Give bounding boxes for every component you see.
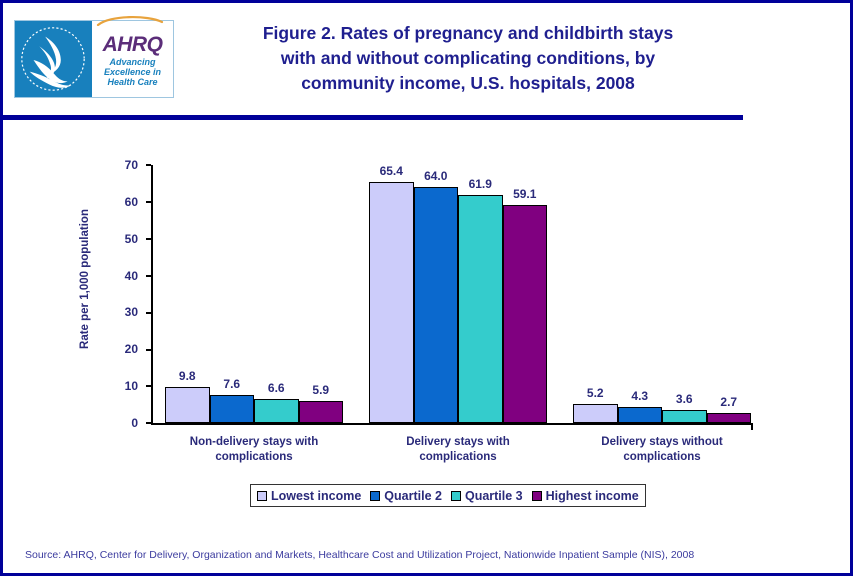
- y-axis-tick-mark: [146, 312, 151, 314]
- bar-group-bars: 9.87.66.65.9: [165, 165, 343, 423]
- legend-swatch: [451, 491, 461, 501]
- ahrq-tagline-line1: Advancing: [104, 57, 161, 67]
- y-axis-tick-mark: [146, 201, 151, 203]
- ahrq-wordmark: AHRQ: [103, 34, 163, 55]
- legend-item[interactable]: Quartile 2: [370, 489, 442, 503]
- ahrq-arc-icon: [96, 14, 166, 26]
- bar-group-bars: 5.24.33.62.7: [573, 165, 751, 423]
- y-axis-tick-mark: [146, 349, 151, 351]
- bar-value-label: 7.6: [223, 377, 240, 391]
- header: AHRQ Advancing Excellence in Health Care…: [3, 3, 850, 108]
- legend-label: Lowest income: [271, 489, 361, 503]
- figure-title-line3: community income, U.S. hospitals, 2008: [188, 71, 748, 96]
- bar-slot: 2.7: [707, 165, 752, 423]
- bar-value-label: 5.9: [312, 383, 329, 397]
- bar[interactable]: [618, 407, 663, 423]
- bar-slot: 7.6: [210, 165, 255, 423]
- x-axis-line: [151, 423, 753, 425]
- y-axis-tick-label: 0: [131, 416, 138, 430]
- x-axis-category-label-line: Delivery stays with: [353, 435, 563, 450]
- figure-title-line1: Figure 2. Rates of pregnancy and childbi…: [188, 21, 748, 46]
- y-axis-tick-label: 40: [125, 269, 138, 283]
- y-axis-tick-mark: [146, 385, 151, 387]
- source-note: Source: AHRQ, Center for Delivery, Organ…: [25, 549, 694, 561]
- y-axis-tick: 70: [125, 158, 151, 172]
- x-axis-category-label: Delivery stays withcomplications: [353, 435, 563, 465]
- figure-title: Figure 2. Rates of pregnancy and childbi…: [188, 21, 748, 96]
- bar-value-label: 6.6: [268, 381, 285, 395]
- bar[interactable]: [210, 395, 255, 423]
- bar[interactable]: [503, 205, 548, 423]
- bar-value-label: 3.6: [676, 392, 693, 406]
- y-axis-tick-mark: [146, 238, 151, 240]
- y-axis-tick: 10: [125, 379, 151, 393]
- legend-label: Quartile 2: [384, 489, 442, 503]
- y-axis-tick: 0: [131, 416, 151, 430]
- y-axis-tick-label: 50: [125, 232, 138, 246]
- bar-slot: 65.4: [369, 165, 414, 423]
- x-axis-category-label-line: complications: [149, 450, 359, 465]
- bar-value-label: 5.2: [587, 386, 604, 400]
- bar[interactable]: [573, 404, 618, 423]
- bar-slot: 64.0: [414, 165, 459, 423]
- ahrq-tagline-line3: Health Care: [104, 77, 161, 87]
- x-axis-category-label-line: Delivery stays without: [557, 435, 767, 450]
- ahrq-tagline-line2: Excellence in: [104, 67, 161, 77]
- legend-label: Quartile 3: [465, 489, 523, 503]
- bar-slot: 6.6: [254, 165, 299, 423]
- bar[interactable]: [414, 187, 459, 423]
- y-axis-tick: 20: [125, 342, 151, 356]
- y-axis-line: [151, 165, 153, 423]
- x-axis-category-label-line: Non-delivery stays with: [149, 435, 359, 450]
- bar-group: 65.464.061.959.1Delivery stays withcompl…: [369, 165, 547, 423]
- bar-value-label: 64.0: [424, 169, 447, 183]
- y-axis-tick-mark: [146, 422, 151, 424]
- plot-area: 010203040506070 9.87.66.65.9Non-delivery…: [151, 165, 753, 423]
- bar-value-label: 65.4: [380, 164, 403, 178]
- bar-slot: 5.2: [573, 165, 618, 423]
- figure-page: AHRQ Advancing Excellence in Health Care…: [0, 0, 853, 576]
- chart-legend: Lowest incomeQuartile 2Quartile 3Highest…: [250, 484, 646, 507]
- y-axis-tick-label: 70: [125, 158, 138, 172]
- y-axis-tick: 30: [125, 305, 151, 319]
- x-axis-category-label-line: complications: [353, 450, 563, 465]
- x-axis-category-label: Non-delivery stays withcomplications: [149, 435, 359, 465]
- bar-group: 5.24.33.62.7Delivery stays withoutcompli…: [573, 165, 751, 423]
- hhs-eagle-seal-icon: [15, 21, 92, 97]
- legend-item[interactable]: Lowest income: [257, 489, 361, 503]
- header-divider: [3, 115, 743, 120]
- bar[interactable]: [254, 399, 299, 423]
- bar[interactable]: [662, 410, 707, 423]
- bar[interactable]: [369, 182, 414, 423]
- y-axis-tick-label: 10: [125, 379, 138, 393]
- legend-item[interactable]: Highest income: [532, 489, 639, 503]
- y-axis-tick: 40: [125, 269, 151, 283]
- x-axis-category-label-line: complications: [557, 450, 767, 465]
- legend-item[interactable]: Quartile 3: [451, 489, 523, 503]
- y-axis-tick-label: 20: [125, 342, 138, 356]
- bar-group: 9.87.66.65.9Non-delivery stays withcompl…: [165, 165, 343, 423]
- legend-swatch: [370, 491, 380, 501]
- bar-value-label: 2.7: [720, 395, 737, 409]
- legend-swatch: [532, 491, 542, 501]
- ahrq-wordmark-block: AHRQ Advancing Excellence in Health Care: [92, 21, 173, 97]
- bar-value-label: 4.3: [631, 389, 648, 403]
- bar-slot: 61.9: [458, 165, 503, 423]
- bar-slot: 9.8: [165, 165, 210, 423]
- ahrq-logo: AHRQ Advancing Excellence in Health Care: [14, 20, 174, 98]
- figure-title-line2: with and without complicating conditions…: [188, 46, 748, 71]
- bar-chart: Rate per 1,000 population 01020304050607…: [3, 123, 850, 523]
- x-axis-category-label: Delivery stays withoutcomplications: [557, 435, 767, 465]
- bar[interactable]: [707, 413, 752, 423]
- bar[interactable]: [458, 195, 503, 423]
- bar[interactable]: [299, 401, 344, 423]
- bar-slot: 5.9: [299, 165, 344, 423]
- y-axis-tick-label: 60: [125, 195, 138, 209]
- bar-group-bars: 65.464.061.959.1: [369, 165, 547, 423]
- bar-value-label: 9.8: [179, 369, 196, 383]
- bar-slot: 59.1: [503, 165, 548, 423]
- bar-slot: 3.6: [662, 165, 707, 423]
- y-axis-tick: 50: [125, 232, 151, 246]
- bar-slot: 4.3: [618, 165, 663, 423]
- bar-value-label: 59.1: [513, 187, 536, 201]
- y-axis-tick-label: 30: [125, 305, 138, 319]
- x-axis-end-tick: [751, 423, 753, 430]
- ahrq-tagline: Advancing Excellence in Health Care: [104, 57, 161, 87]
- y-axis-title: Rate per 1,000 population: [79, 189, 91, 369]
- y-axis-tick-mark: [146, 275, 151, 277]
- y-axis-tick-mark: [146, 164, 151, 166]
- legend-label: Highest income: [546, 489, 639, 503]
- y-axis-tick: 60: [125, 195, 151, 209]
- bar-value-label: 61.9: [469, 177, 492, 191]
- legend-swatch: [257, 491, 267, 501]
- bar[interactable]: [165, 387, 210, 423]
